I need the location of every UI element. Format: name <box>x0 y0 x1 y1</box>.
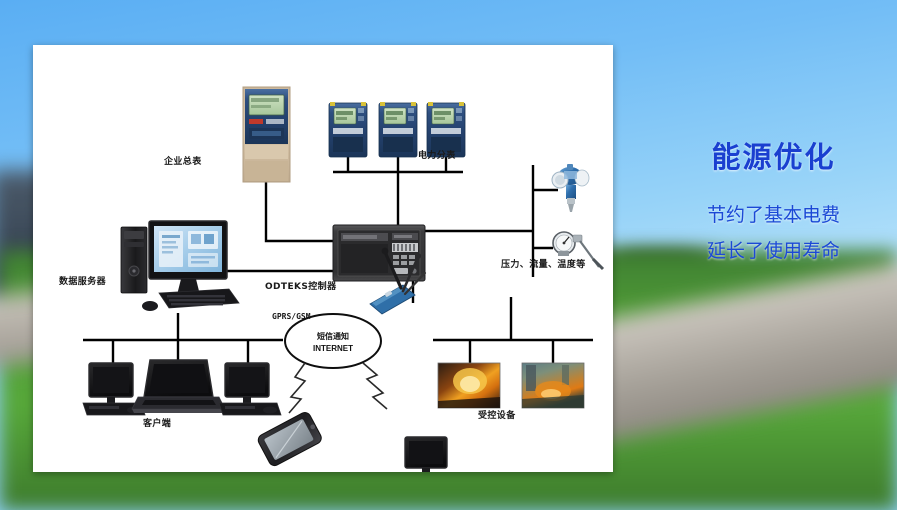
client-desktop-right-node <box>219 363 281 415</box>
benefit-line-1: 节约了基本电费 <box>650 198 897 234</box>
label-gprs-gsm: GPRS/GSM <box>272 312 311 321</box>
label-power-submeter: 电力分表 <box>418 148 456 161</box>
wireless-links <box>289 363 387 413</box>
label-odteks-controller: ODTEKS控制器 <box>265 279 336 292</box>
diagram-card: 企业总表 电力分表 压力、流量、温度等 数据服务器 ODTEKS控制器 GPRS… <box>33 45 613 472</box>
power-submeter-node-2 <box>379 102 417 157</box>
mobile-phone-node <box>256 410 323 467</box>
data-server-node <box>121 221 239 311</box>
headline-energy-optimization: 能源优化 <box>650 140 897 176</box>
label-internet: INTERNET <box>288 343 378 355</box>
power-submeter-node-1 <box>329 102 367 157</box>
cloud-label-group: 短信通知 INTERNET <box>288 331 378 354</box>
remote-desktop-node <box>399 437 459 472</box>
furnace-photo-b <box>522 363 584 408</box>
label-client: 客户端 <box>143 416 171 429</box>
benefit-list: 节约了基本电费 延长了使用寿命 <box>650 198 897 270</box>
enterprise-meter-node <box>243 87 290 182</box>
label-sensors: 压力、流量、温度等 <box>501 257 586 270</box>
label-controlled-equipment: 受控设备 <box>478 408 516 421</box>
client-laptop-node <box>132 360 225 413</box>
pressure-transmitter-node <box>552 164 589 212</box>
benefit-line-2: 延长了使用寿命 <box>650 234 897 270</box>
furnace-photo-a <box>438 363 500 408</box>
marketing-text-panel: 能源优化 节约了基本电费 延长了使用寿命 <box>650 140 897 270</box>
label-data-server: 数据服务器 <box>59 274 106 287</box>
label-enterprise-meter: 企业总表 <box>164 154 202 167</box>
label-sms-notify: 短信通知 <box>288 331 378 343</box>
